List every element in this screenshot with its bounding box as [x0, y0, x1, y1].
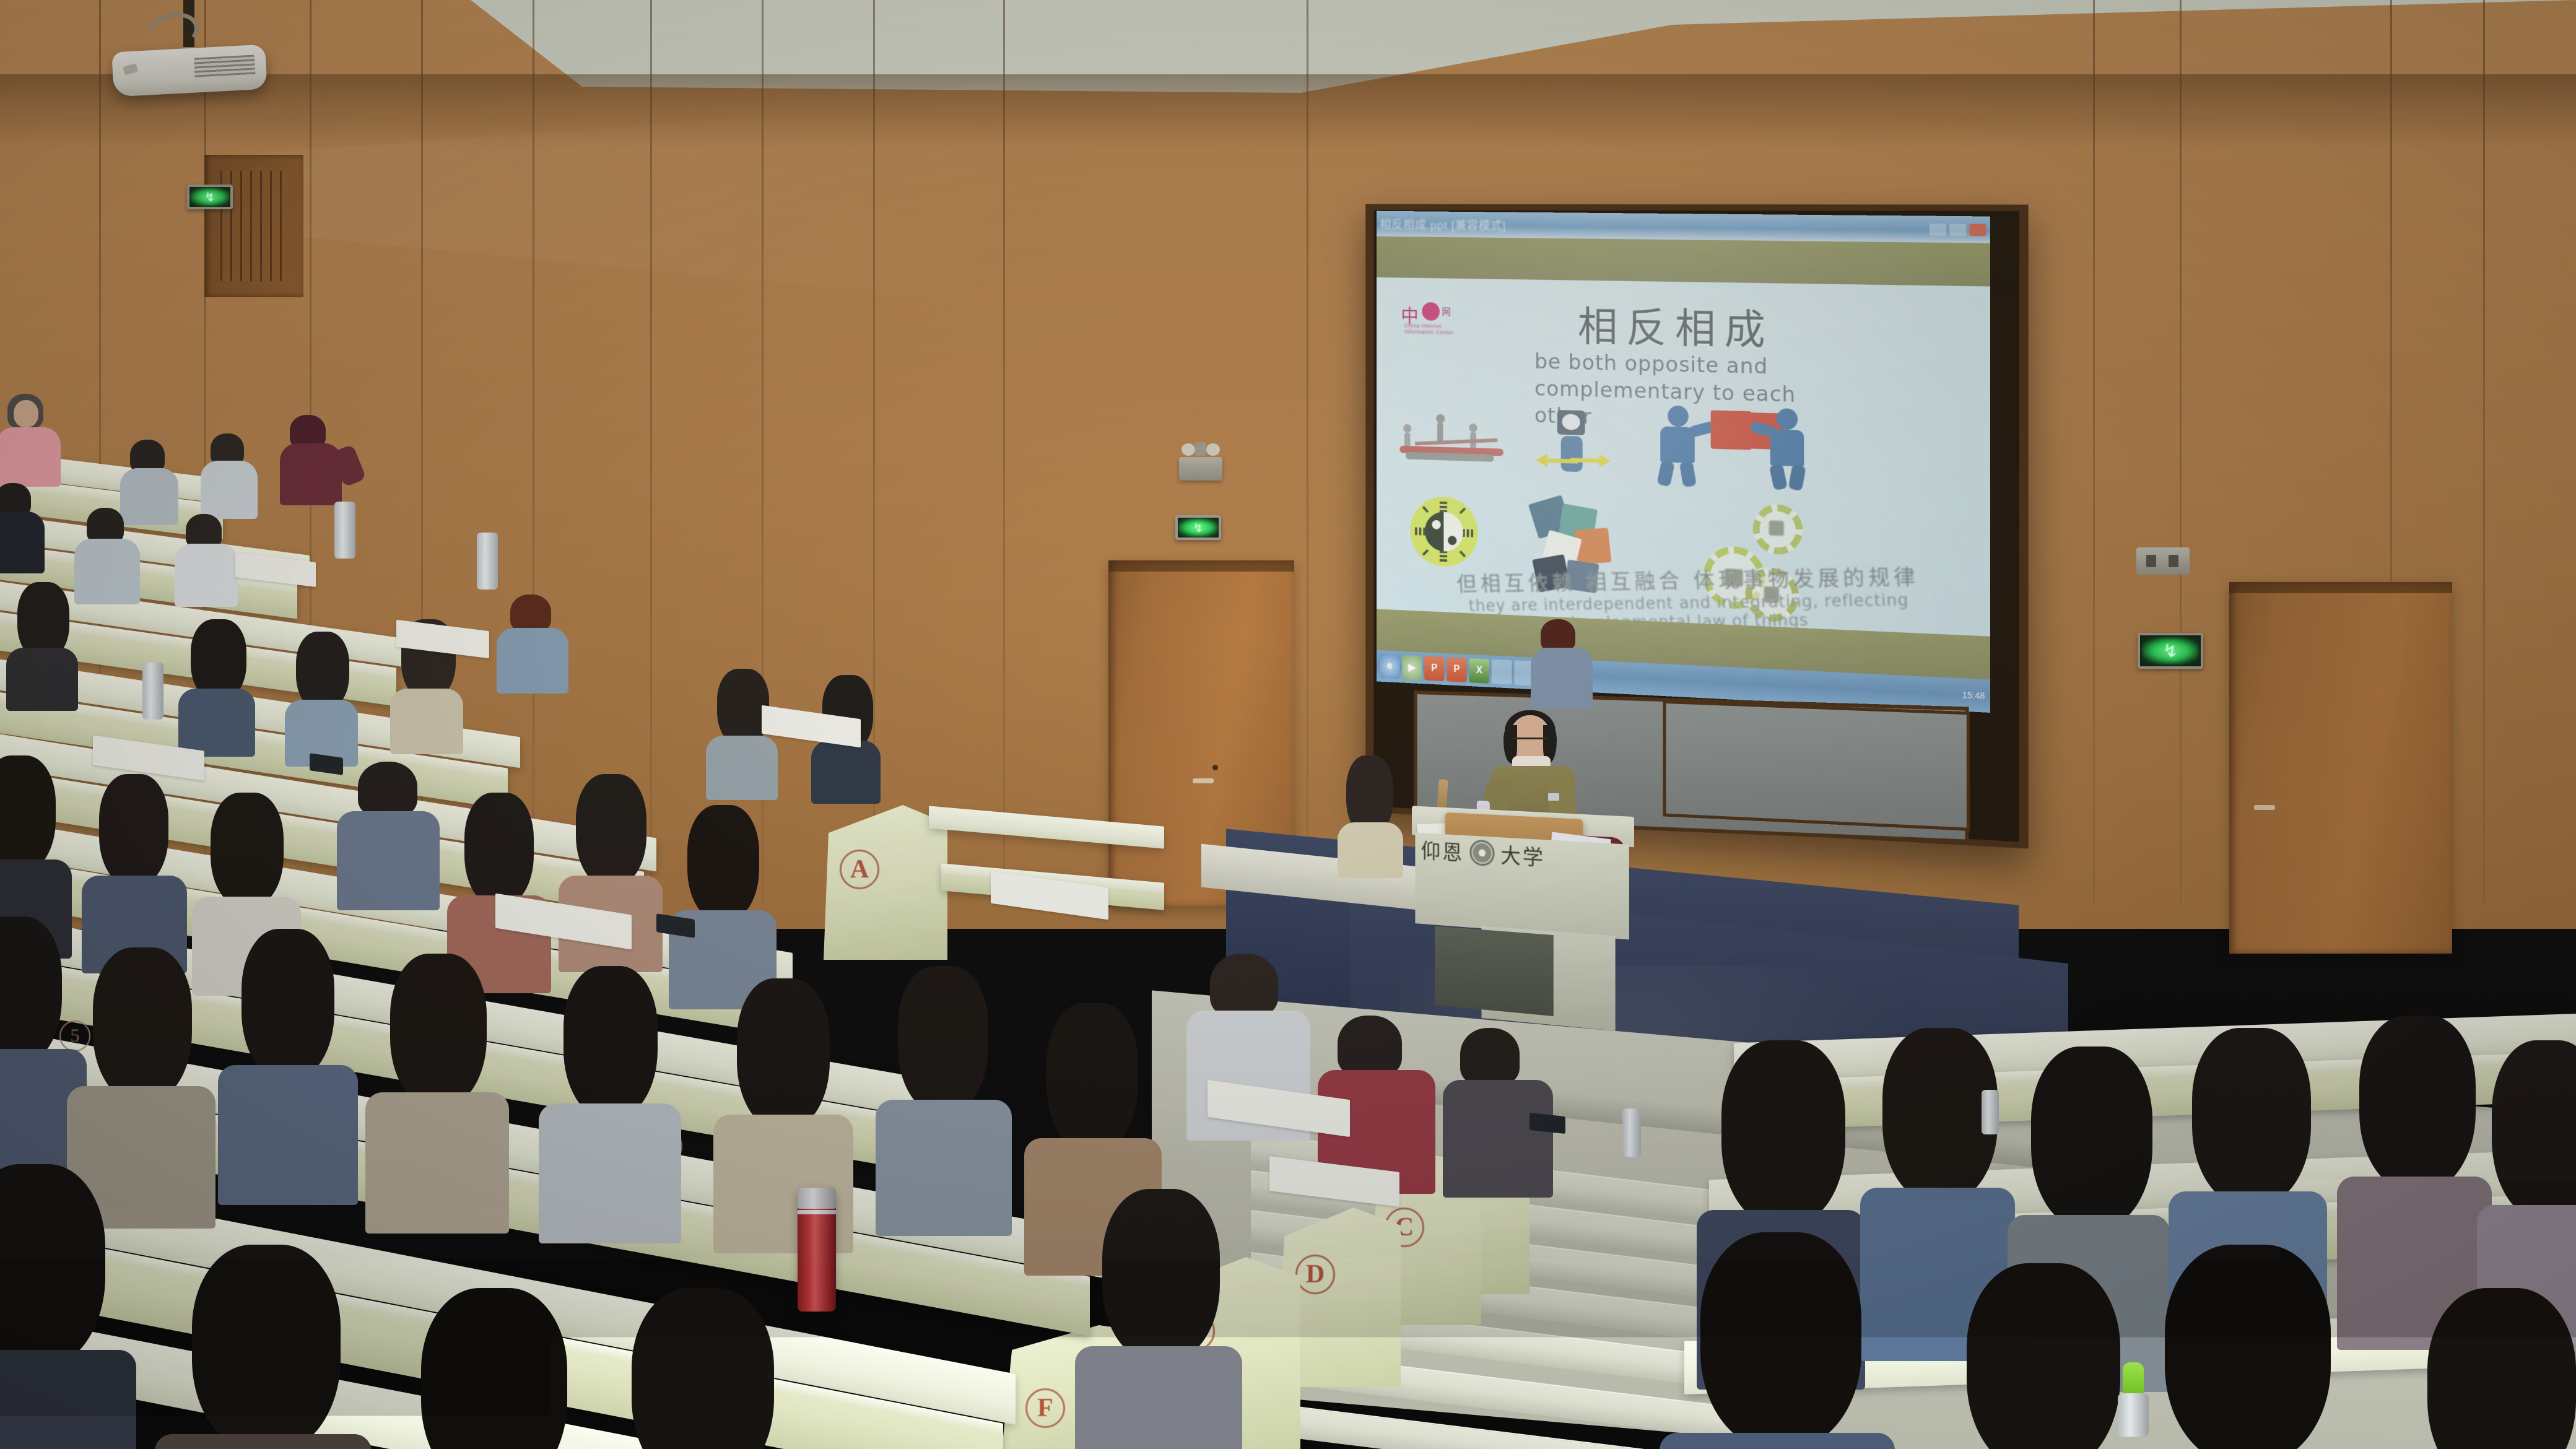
presenter-badge	[1548, 793, 1559, 801]
person-with-two-arrows-icon	[1536, 409, 1608, 491]
emergency-light-mid	[1195, 442, 1206, 456]
row-end-panel-a	[824, 805, 947, 960]
projector-lens	[123, 63, 138, 75]
whiteboard-lower-right	[1663, 700, 1970, 831]
flask-ring	[798, 1210, 836, 1214]
flask-cap	[798, 1188, 836, 1209]
wall-seam	[650, 0, 652, 904]
door-right-rear[interactable]	[2229, 582, 2452, 954]
podium-dark-panel	[1435, 926, 1554, 1016]
slide-canvas: 中 网 China Internet Information Center 相反…	[1377, 277, 1990, 637]
system-tray[interactable]: 15:48	[1962, 690, 1985, 701]
outlet-slot	[2169, 555, 2178, 567]
emergency-light-body	[1179, 457, 1222, 481]
podium-label-left: 仰恩	[1421, 834, 1464, 866]
emergency-light-center	[1177, 442, 1225, 481]
water-bottle-desk[interactable]	[1982, 1090, 1999, 1134]
running-man-icon: ↯	[205, 189, 215, 205]
maximize-button[interactable]	[1949, 224, 1966, 236]
exit-sign-center-wall: ↯	[1175, 515, 1221, 540]
university-seal-icon	[1469, 839, 1494, 866]
running-man-icon: ↯	[2163, 640, 2178, 662]
two-people-joining-puzzle-icon	[1656, 405, 1805, 490]
tray-clock: 15:48	[1962, 690, 1985, 701]
yin-yang-bagua-icon	[1410, 495, 1477, 568]
rowing-crew-icon	[1399, 412, 1505, 469]
bottle-cap	[2123, 1362, 2144, 1396]
wall-seam	[1003, 0, 1005, 904]
door-left-rear[interactable]	[204, 155, 303, 297]
minimize-button[interactable]	[1930, 223, 1946, 235]
door-handle[interactable]	[2254, 805, 2275, 810]
window-title: 相反相成.ppt [兼容模式]	[1380, 215, 1506, 233]
glasses-icon	[1512, 738, 1548, 745]
excel-icon[interactable]: X	[1469, 658, 1489, 684]
red-vacuum-flask[interactable]	[798, 1188, 836, 1312]
powerpoint-icon-1[interactable]: P	[1424, 656, 1444, 681]
close-button[interactable]	[1969, 224, 1986, 236]
outlet-slot	[2146, 555, 2156, 567]
wall-upper-shadow	[0, 74, 2576, 149]
water-bottle-desk[interactable]	[477, 533, 498, 590]
door-header	[2229, 582, 2452, 593]
water-bottle-desk[interactable]	[334, 502, 355, 559]
bottle-body	[2118, 1393, 2149, 1437]
exit-sign-panel: ↯	[1178, 518, 1219, 537]
wall-seam	[533, 0, 534, 904]
podium-label-right: 大学	[1500, 838, 1545, 871]
green-capped-bottle[interactable]	[2118, 1362, 2149, 1437]
smartphone[interactable]	[1529, 1113, 1565, 1134]
row-marker-a: A	[840, 850, 879, 889]
exit-sign-panel: ↯	[2140, 635, 2201, 666]
powerpoint-icon-2[interactable]: P	[1447, 657, 1466, 682]
row-marker-f: F	[1025, 1388, 1065, 1428]
water-bottle-desk[interactable]	[142, 663, 163, 720]
ceiling-projector	[111, 45, 267, 97]
running-man-icon: ↯	[1193, 520, 1204, 536]
explorer-window-1[interactable]	[1492, 659, 1512, 685]
exit-sign-left-wall: ↯	[187, 185, 233, 209]
emergency-lamp-right	[1206, 443, 1220, 456]
yin-yang-symbol	[1425, 511, 1463, 552]
window-controls[interactable]	[1930, 223, 1986, 235]
exit-sign-right-wall: ↯	[2138, 633, 2203, 669]
wall-seam	[1307, 0, 1308, 904]
wall-seam	[2093, 0, 2095, 904]
wall-plate	[2136, 547, 2190, 575]
internet-explorer-icon[interactable]: e	[1380, 654, 1399, 679]
media-player-icon[interactable]: ▶	[1402, 655, 1422, 681]
lecture-hall-scene: ↯ ↯ ↯	[0, 0, 2576, 1449]
water-bottle-desk[interactable]	[1622, 1108, 1641, 1157]
wall-seam	[2180, 0, 2182, 904]
door-lock-icon	[1212, 765, 1218, 770]
door-handle[interactable]	[1193, 778, 1214, 783]
projector-vent	[194, 54, 256, 79]
emergency-lamp-left	[1181, 443, 1195, 456]
podium: 仰恩 大学	[1412, 806, 1634, 1026]
emergency-light-right	[2136, 534, 2190, 575]
row-marker-d: D	[1295, 1255, 1335, 1294]
exit-sign-panel: ↯	[189, 187, 230, 207]
projection-screen[interactable]: 相反相成.ppt [兼容模式] 中 网 China Internet Infor…	[1377, 211, 1990, 713]
wall-seam	[2483, 0, 2485, 904]
door-header	[1108, 560, 1294, 572]
